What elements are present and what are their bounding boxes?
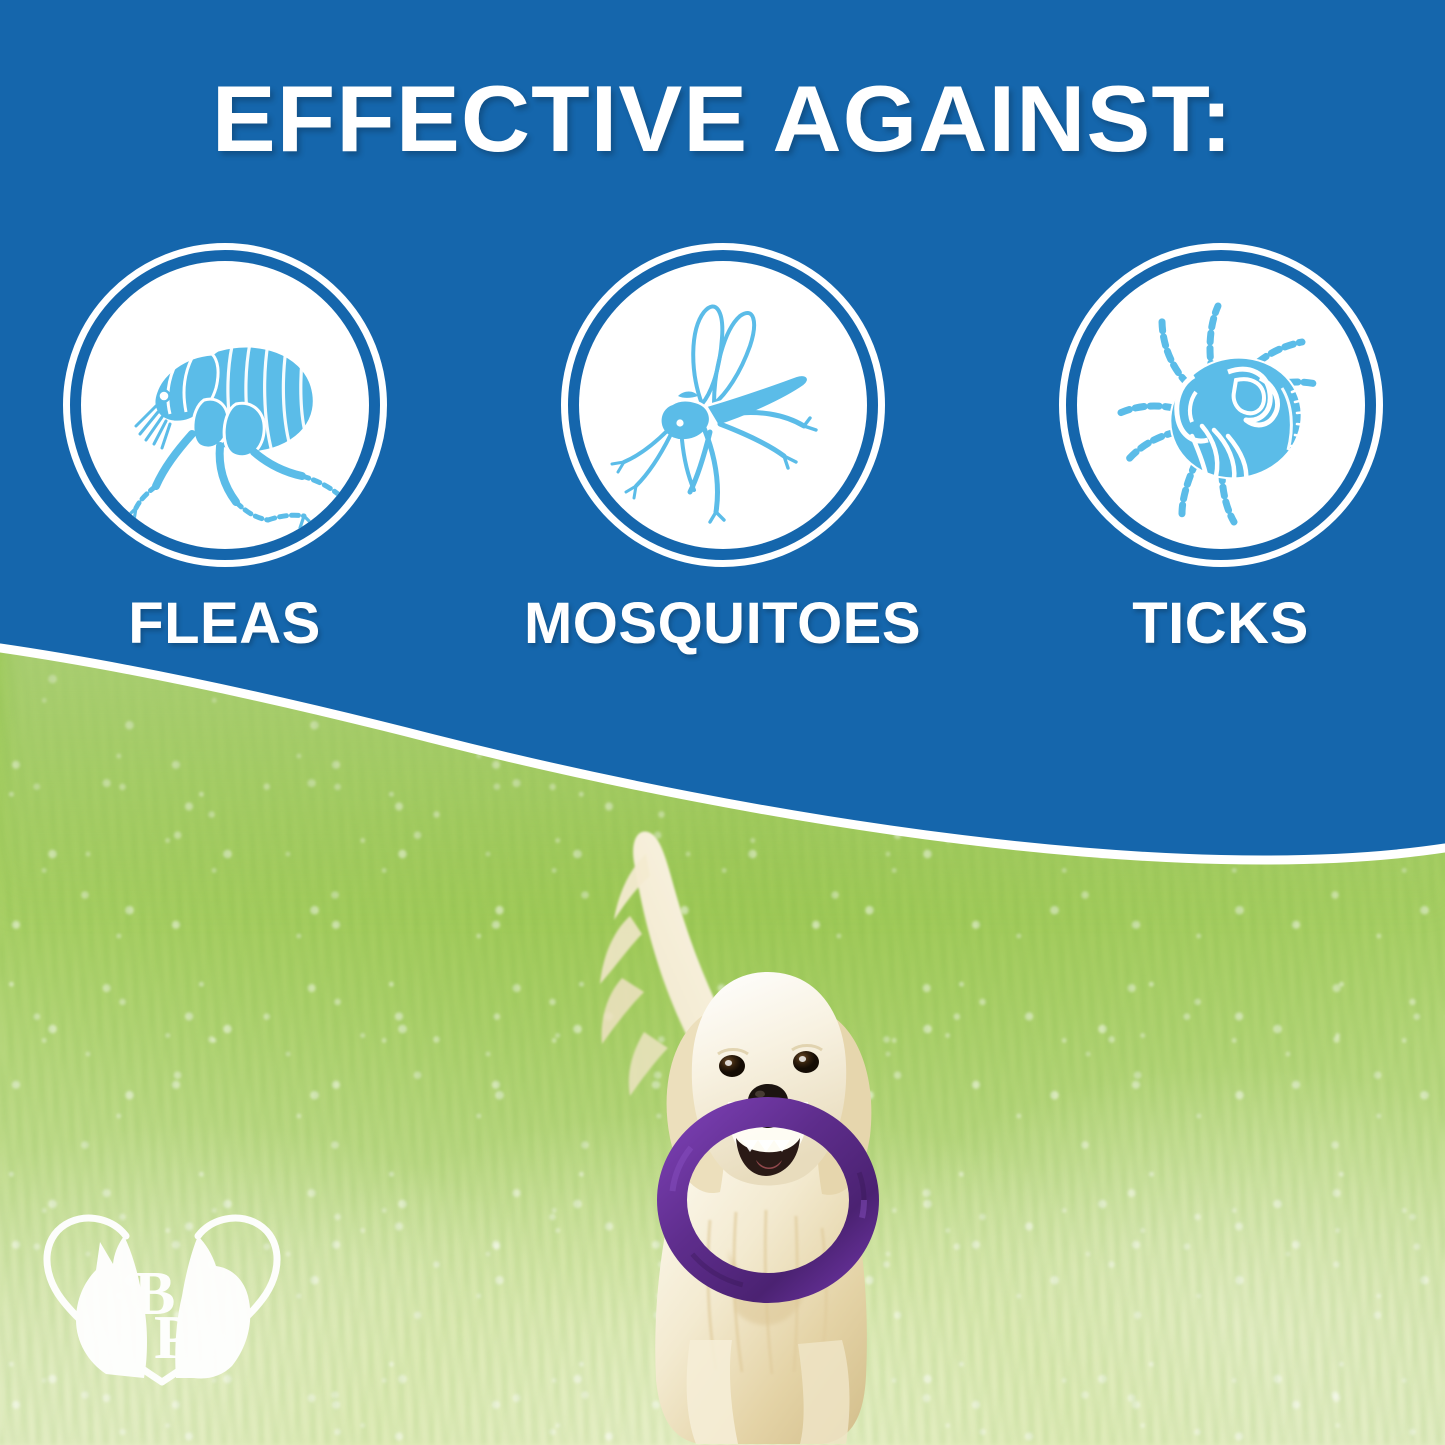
logo-monogram-p: P [154, 1304, 192, 1372]
dog-eye-left [719, 1055, 745, 1077]
dog-teeth [742, 1140, 790, 1152]
dog-head [692, 972, 846, 1186]
mosquito-icon [598, 280, 848, 530]
pest-item-mosquitoes: MOSQUITOES [558, 243, 888, 653]
flea-icon [100, 280, 350, 530]
mosquito-badge-inner [579, 261, 867, 549]
page-title: EFFECTIVE AGAINST: [0, 72, 1445, 166]
tick-icon [1096, 280, 1346, 530]
pest-label-ticks: TICKS [1132, 595, 1309, 653]
mosquito-badge [561, 243, 885, 567]
pest-label-mosquitoes: MOSQUITOES [524, 595, 921, 653]
cat-dog-heart-logo: B P [26, 1196, 298, 1392]
product-feature-poster: EFFECTIVE AGAINST: [0, 0, 1445, 1445]
pest-item-ticks: TICKS [1056, 243, 1386, 653]
flea-badge [63, 243, 387, 567]
dog-eye-right [793, 1051, 819, 1073]
dog-illustration [560, 820, 940, 1445]
flea-badge-inner [81, 261, 369, 549]
pest-label-fleas: FLEAS [128, 595, 321, 653]
tick-badge-inner [1077, 261, 1365, 549]
pest-icon-row: FLEAS [0, 243, 1445, 653]
pest-item-fleas: FLEAS [60, 243, 390, 653]
tick-badge [1059, 243, 1383, 567]
